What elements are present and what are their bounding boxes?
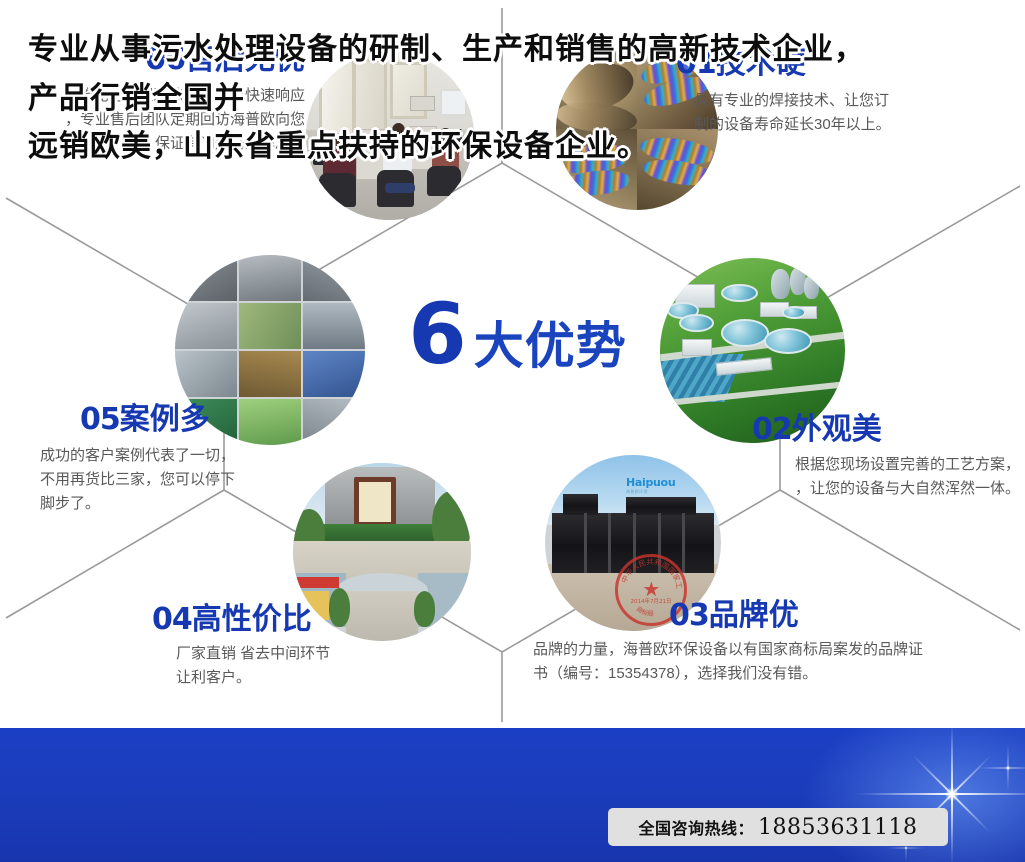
advantage-04-number: 04: [152, 602, 192, 637]
advantage-03-body: 品牌的力量，海普欧环保设备以有国家商标局案发的品牌证 书（编号：15354378…: [533, 638, 1013, 687]
advantage-03-number: 03: [669, 598, 709, 633]
center-label-text: 大优势: [474, 321, 627, 371]
hotline-box[interactable]: 全国咨询热线： 18853631118: [608, 808, 948, 846]
advantage-02-body: 根据您现场设置完善的工艺方案， ，让您的设备与大自然浑然一体。: [700, 453, 1020, 502]
advantage-02-block: 02外观美 根据您现场设置完善的工艺方案， ，让您的设备与大自然浑然一体。: [700, 414, 1020, 501]
hotline-label: 全国咨询热线：: [639, 815, 755, 839]
advantage-02-heading: 02外观美: [752, 414, 1020, 446]
infographic-root: 6 大优势: [0, 0, 1025, 862]
advantage-04-heading: 04高性价比: [152, 604, 452, 636]
star-icon: ★: [642, 580, 660, 600]
advantage-03-title: 品牌优: [709, 599, 799, 632]
banner-slogan-line2: 远销欧美，山东省重点扶持的环保设备企业。: [28, 123, 888, 172]
advantage-04-block: 04高性价比 厂家直销 省去中间环节 让利客户。: [152, 604, 452, 690]
advantage-04-title: 高性价比: [192, 603, 312, 636]
advantage-05-number: 05: [80, 402, 120, 437]
advantage-03-heading: 03品牌优: [669, 600, 1013, 632]
advantage-05-title: 案例多: [120, 403, 210, 436]
haipuou-logo: Haipuou 海普欧环保: [626, 476, 675, 495]
advantage-02-title: 外观美: [792, 413, 882, 446]
advantage-05-block: 05案例多 成功的客户案例代表了一切， 不用再货比三家，您可以停下 脚步了。: [40, 404, 340, 516]
advantage-05-body: 成功的客户案例代表了一切， 不用再货比三家，您可以停下 脚步了。: [40, 444, 340, 517]
center-number: 6: [408, 292, 464, 376]
advantage-05-heading: 05案例多: [80, 404, 340, 436]
hotline-number: 18853631118: [758, 815, 917, 840]
banner-slogan: 专业从事污水处理设备的研制、生产和销售的高新技术企业，产品行销全国并 远销欧美，…: [28, 26, 888, 172]
advantage-02-number: 02: [752, 412, 792, 447]
advantage-03-block: 03品牌优 品牌的力量，海普欧环保设备以有国家商标局案发的品牌证 书（编号：15…: [533, 600, 1013, 686]
banner-slogan-line1: 专业从事污水处理设备的研制、生产和销售的高新技术企业，产品行销全国并: [28, 26, 888, 123]
advantage-04-body: 厂家直销 省去中间环节 让利客户。: [176, 642, 452, 691]
center-headline: 6 大优势: [395, 292, 640, 382]
